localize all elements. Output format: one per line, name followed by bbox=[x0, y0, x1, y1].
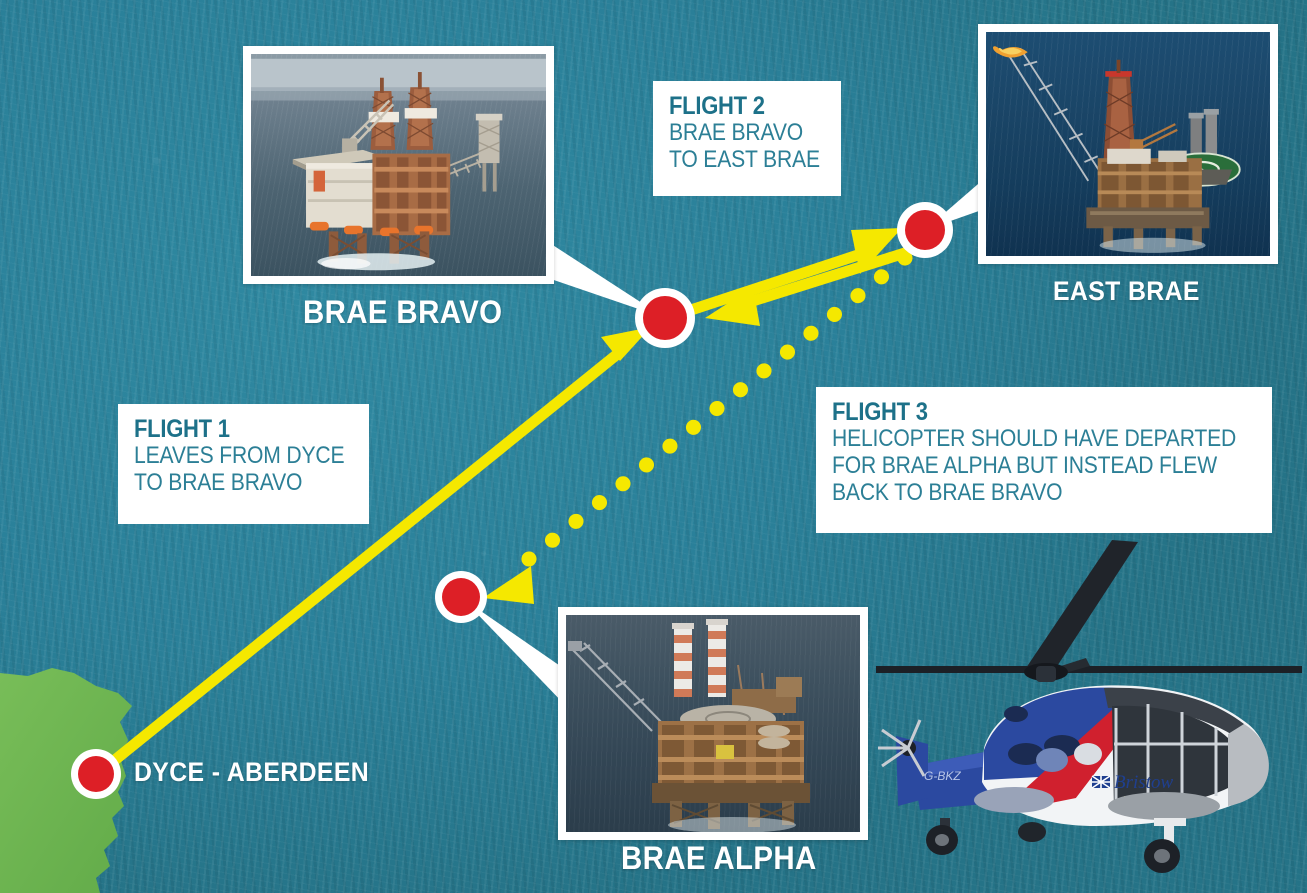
map-label-brae-alpha: BRAE ALPHA bbox=[621, 840, 817, 877]
flight-3-line-2: FOR BRAE ALPHA BUT INSTEAD FLEW bbox=[832, 452, 1205, 479]
info-box-flight-3: FLIGHT 3 HELICOPTER SHOULD HAVE DEPARTED… bbox=[816, 387, 1272, 533]
flight-2-line-2: TO EAST BRAE bbox=[669, 146, 806, 173]
flight-3-line-3: BACK TO BRAE BRAVO bbox=[832, 479, 1205, 506]
rotor-blades bbox=[876, 540, 1302, 682]
nose-cone bbox=[1228, 724, 1269, 806]
flight-2-title: FLIGHT 2 bbox=[669, 93, 806, 119]
landing-gear bbox=[926, 818, 1186, 873]
flight-1-title: FLIGHT 1 bbox=[134, 416, 327, 442]
map-label-brae-bravo: BRAE BRAVO bbox=[303, 294, 502, 331]
oil-platform-illustration bbox=[251, 54, 546, 276]
cabin-window bbox=[1074, 743, 1102, 765]
helicopter-registration: G-BKZ bbox=[924, 769, 961, 783]
map-label-east-brae: EAST BRAE bbox=[1053, 276, 1200, 307]
marker-brae-bravo[interactable] bbox=[635, 288, 695, 348]
map-label-dyce: DYCE - ABERDEEN bbox=[134, 757, 369, 788]
brae-bravo-photo[interactable] bbox=[243, 46, 554, 284]
bristow-wordmark: Bristow bbox=[1114, 772, 1173, 793]
east-brae-photo[interactable] bbox=[978, 24, 1278, 264]
sponson-left bbox=[974, 787, 1054, 813]
info-box-flight-1: FLIGHT 1 LEAVES FROM DYCE TO BRAE BRAVO bbox=[118, 404, 369, 524]
flight-2-line-1: BRAE BRAVO bbox=[669, 119, 806, 146]
route-flight-2-return bbox=[705, 252, 908, 326]
flight-1-line-2: TO BRAE BRAVO bbox=[134, 469, 327, 496]
infographic-canvas: BRAE BRAVO bbox=[0, 0, 1307, 893]
brae-alpha-photo-inner bbox=[566, 615, 860, 832]
sponson bbox=[1108, 792, 1220, 820]
marker-east-brae[interactable] bbox=[897, 202, 953, 258]
info-box-flight-2: FLIGHT 2 BRAE BRAVO TO EAST BRAE bbox=[653, 81, 841, 196]
flight-3-title: FLIGHT 3 bbox=[832, 399, 1205, 425]
oil-platform-illustration bbox=[986, 32, 1270, 256]
marker-brae-alpha[interactable] bbox=[435, 571, 487, 623]
oil-platform-illustration bbox=[566, 615, 860, 832]
marker-dyce[interactable] bbox=[71, 749, 121, 799]
helicopter-bristow: G-BKZ Bristow bbox=[876, 538, 1307, 893]
flight-1-line-1: LEAVES FROM DYCE bbox=[134, 442, 327, 469]
brae-bravo-photo-inner bbox=[251, 54, 546, 276]
flight-3-line-1: HELICOPTER SHOULD HAVE DEPARTED bbox=[832, 425, 1205, 452]
brae-alpha-photo[interactable] bbox=[558, 607, 868, 840]
cabin-window bbox=[1036, 748, 1068, 772]
east-brae-photo-inner bbox=[986, 32, 1270, 256]
